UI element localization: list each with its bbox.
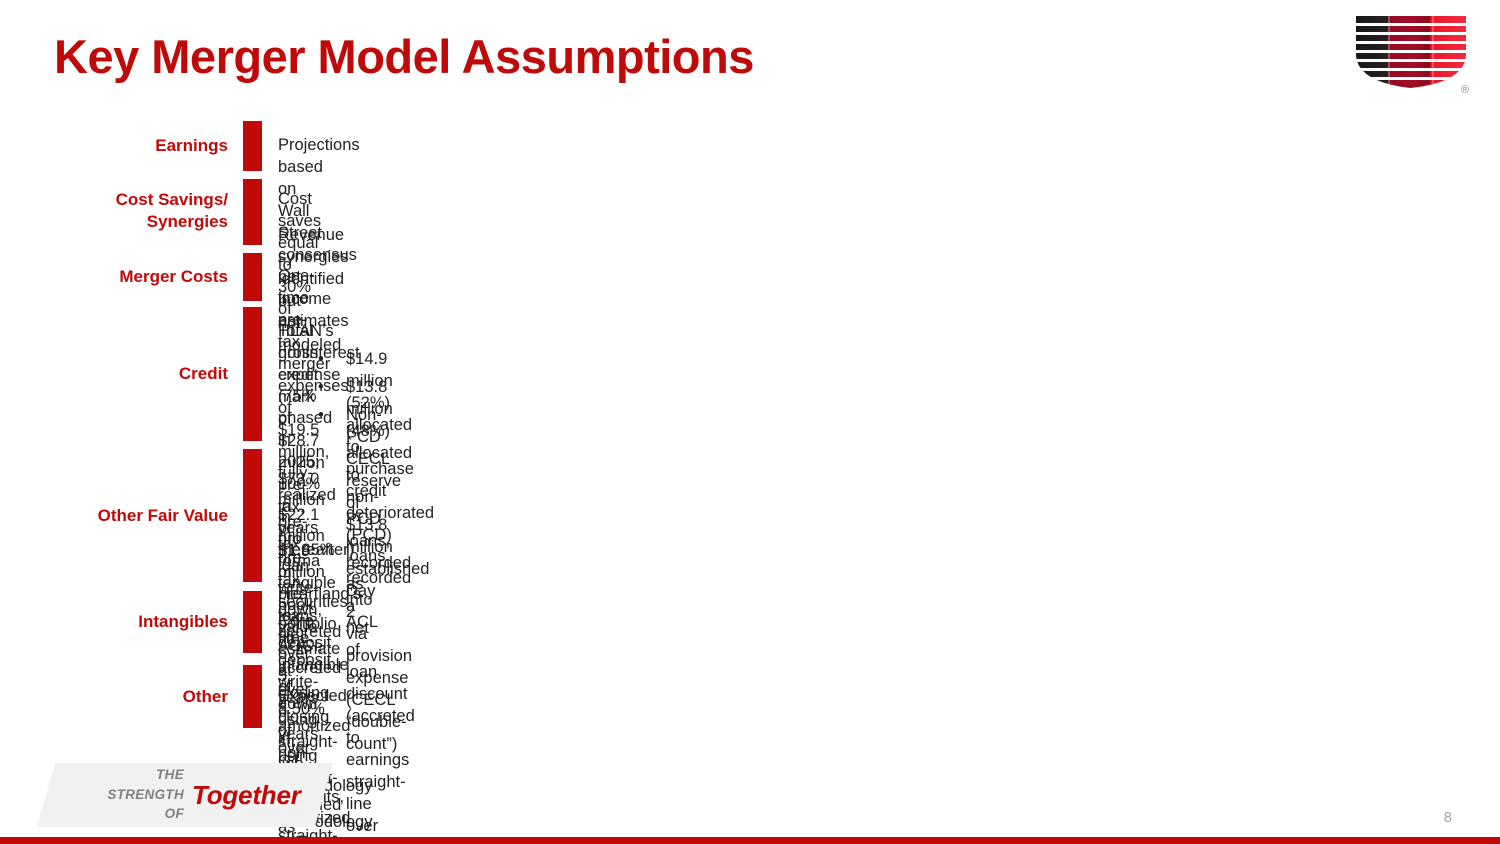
row-label-other-fair-value: Other Fair Value: [0, 505, 228, 527]
row-accent-bar: [243, 179, 262, 245]
row-accent-bar: [243, 307, 262, 441]
assumptions-table: EarningsProjections based on Wall Street…: [0, 0, 1500, 844]
row-accent-bar: [243, 665, 262, 728]
row-label-merger-costs: Merger Costs: [0, 266, 228, 288]
bottom-accent-rule: [0, 837, 1500, 844]
row-label-line: Cost Savings/: [0, 189, 228, 211]
row-label-intangibles: Intangibles: [0, 611, 228, 633]
row-accent-bar: [243, 253, 262, 301]
brand-tagline: THE STRENGTH OF: [62, 765, 184, 824]
row-accent-bar: [243, 121, 262, 171]
row-label-earnings: Earnings: [0, 135, 228, 157]
brand-tagline-line1: THE: [62, 765, 184, 785]
row-label-line: Synergies: [0, 211, 228, 233]
row-label-credit: Credit: [0, 363, 228, 385]
brand-lockup: THE STRENGTH OF Together: [37, 763, 333, 827]
row-accent-bar: [243, 449, 262, 582]
bullet-icon: •: [318, 349, 324, 371]
brand-tagline-line2: STRENGTH: [62, 785, 184, 805]
row-label-other: Other: [0, 686, 228, 708]
bullet-icon: •: [318, 405, 324, 427]
slide-canvas: Key Merger Model Assumptions: [0, 0, 1500, 844]
brand-tagline-line3: OF: [62, 804, 184, 824]
bullet-icon: •: [318, 377, 324, 399]
row-accent-bar: [243, 591, 262, 653]
brand-together-wordmark: Together: [192, 780, 301, 811]
page-number: 8: [1444, 810, 1452, 825]
row-label-cost-savings-synergies: Cost Savings/Synergies: [0, 189, 228, 234]
